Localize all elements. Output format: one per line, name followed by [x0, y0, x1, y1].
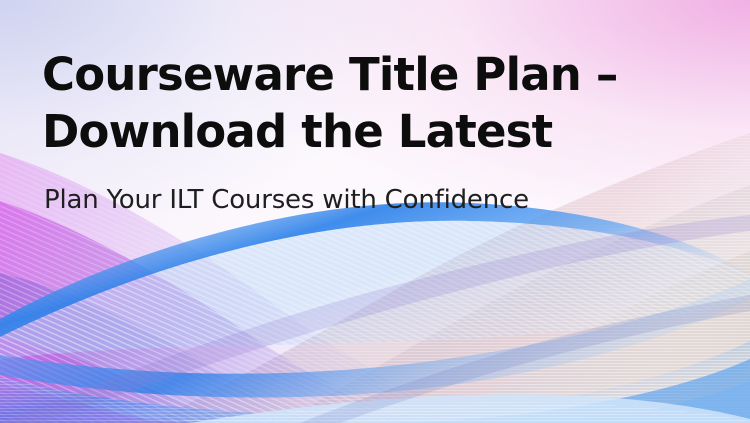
- title-slide: Courseware Title Plan – Download the Lat…: [0, 0, 750, 423]
- page-subtitle: Plan Your ILT Courses with Confidence: [44, 184, 642, 216]
- page-title: Courseware Title Plan – Download the Lat…: [42, 46, 642, 160]
- slide-text-block: Courseware Title Plan – Download the Lat…: [42, 46, 642, 216]
